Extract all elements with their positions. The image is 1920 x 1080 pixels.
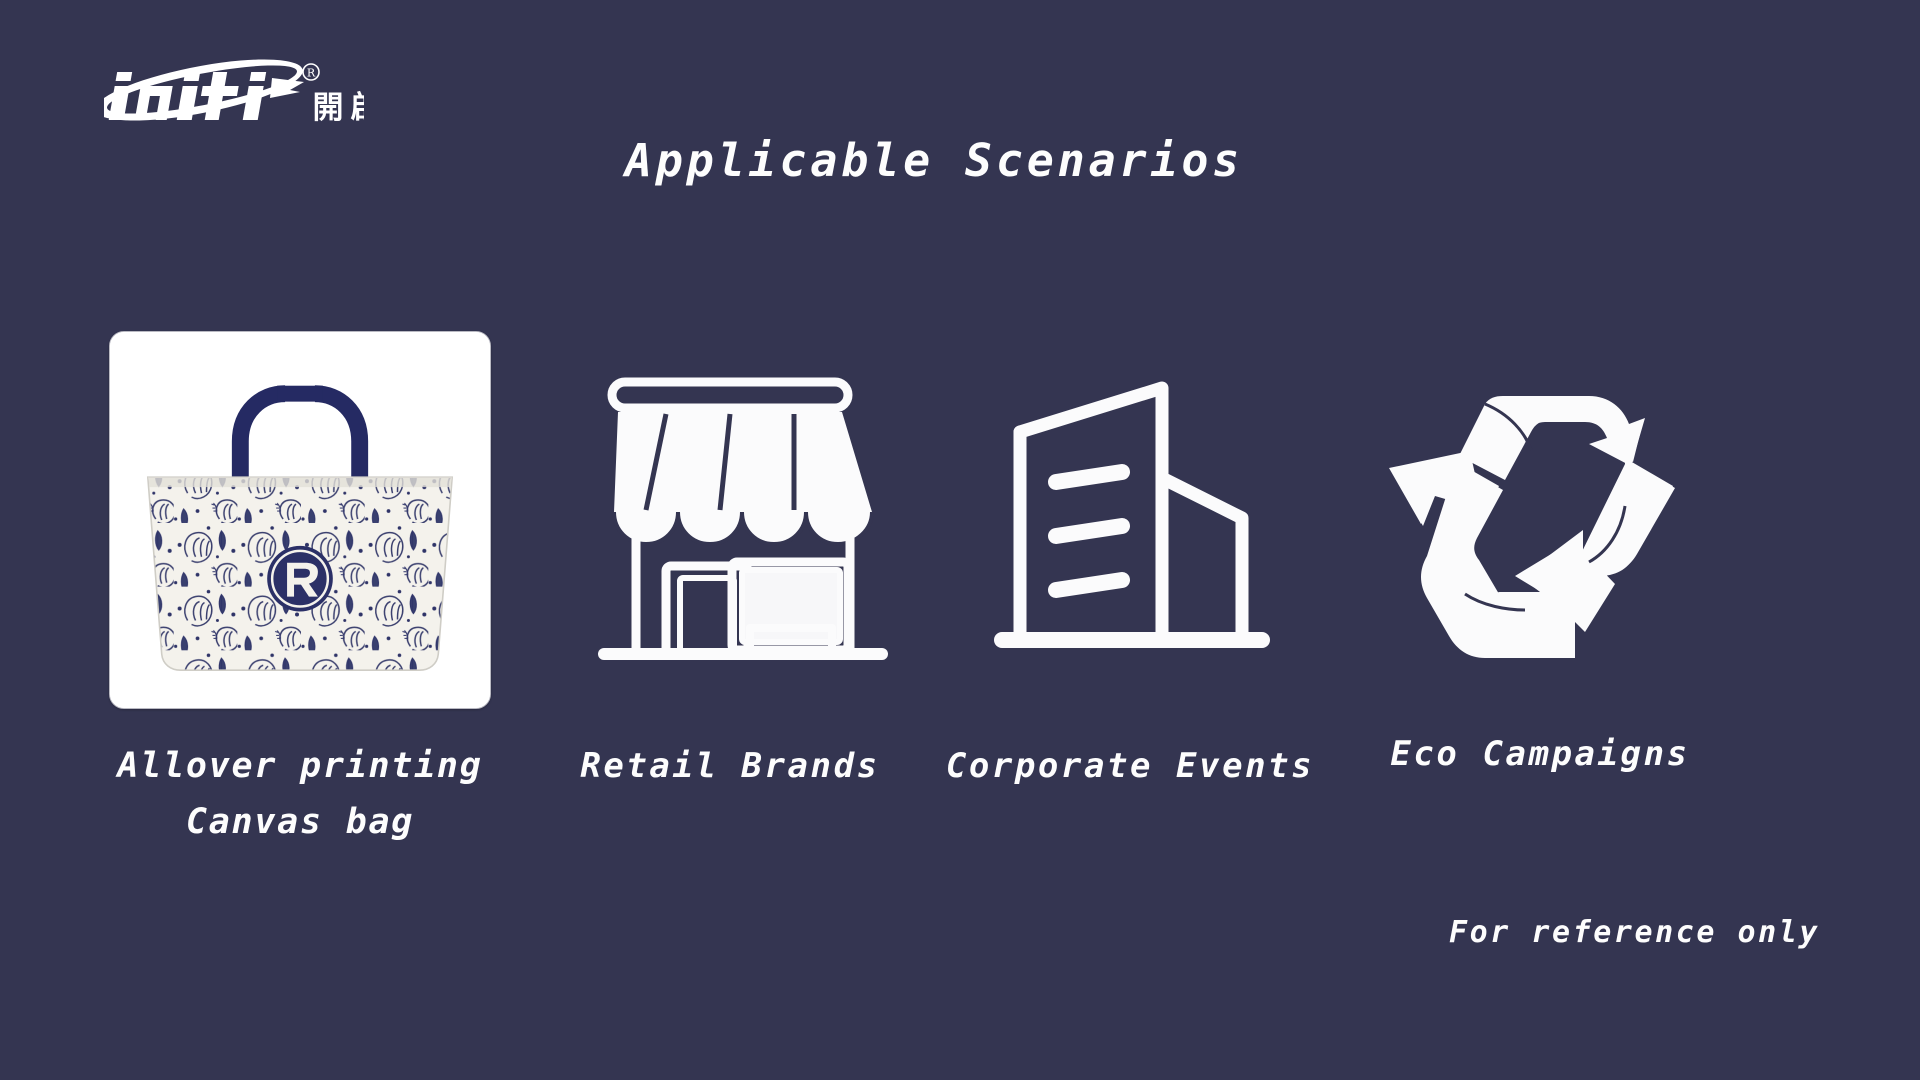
brand-logo[interactable]: R 開 啟 <box>104 56 364 128</box>
scenario-product-label-line1: Allover printing <box>100 738 500 794</box>
office-buildings-art <box>940 320 1320 720</box>
scenario-eco-label: Eco Campaigns <box>1330 728 1750 780</box>
svg-text:啟: 啟 <box>351 90 365 126</box>
office-buildings-icon[interactable] <box>980 370 1280 670</box>
scenario-corporate-label: Corporate Events <box>940 740 1320 792</box>
recycle-icon[interactable] <box>1375 370 1705 670</box>
product-image-card[interactable] <box>109 331 491 709</box>
scenario-retail-label: Retail Brands <box>540 740 920 792</box>
initi-logo-icon: R 開 啟 <box>104 56 364 128</box>
storefront-art <box>540 320 920 720</box>
recycle-art <box>1330 320 1750 720</box>
scenario-product-label: Allover printing Canvas bag <box>100 738 500 850</box>
scenario-corporate: Corporate Events <box>940 320 1320 792</box>
scenario-retail: Retail Brands <box>540 320 920 792</box>
svg-text:R: R <box>307 67 316 80</box>
logo-cjk-name: 開 <box>313 90 344 126</box>
canvas-tote-bag-photo <box>110 332 490 708</box>
reference-note: For reference only <box>1449 915 1820 950</box>
product-card-wrap <box>100 320 500 720</box>
storefront-icon[interactable] <box>570 370 890 670</box>
scenario-product-label-line2: Canvas bag <box>100 794 500 850</box>
registered-mark-icon: R <box>303 64 319 80</box>
page-title: Applicable Scenarios <box>0 135 1894 187</box>
scenario-product: Allover printing Canvas bag <box>100 320 500 850</box>
bag-brand-badge <box>267 546 333 612</box>
scenario-eco: Eco Campaigns <box>1330 320 1750 780</box>
